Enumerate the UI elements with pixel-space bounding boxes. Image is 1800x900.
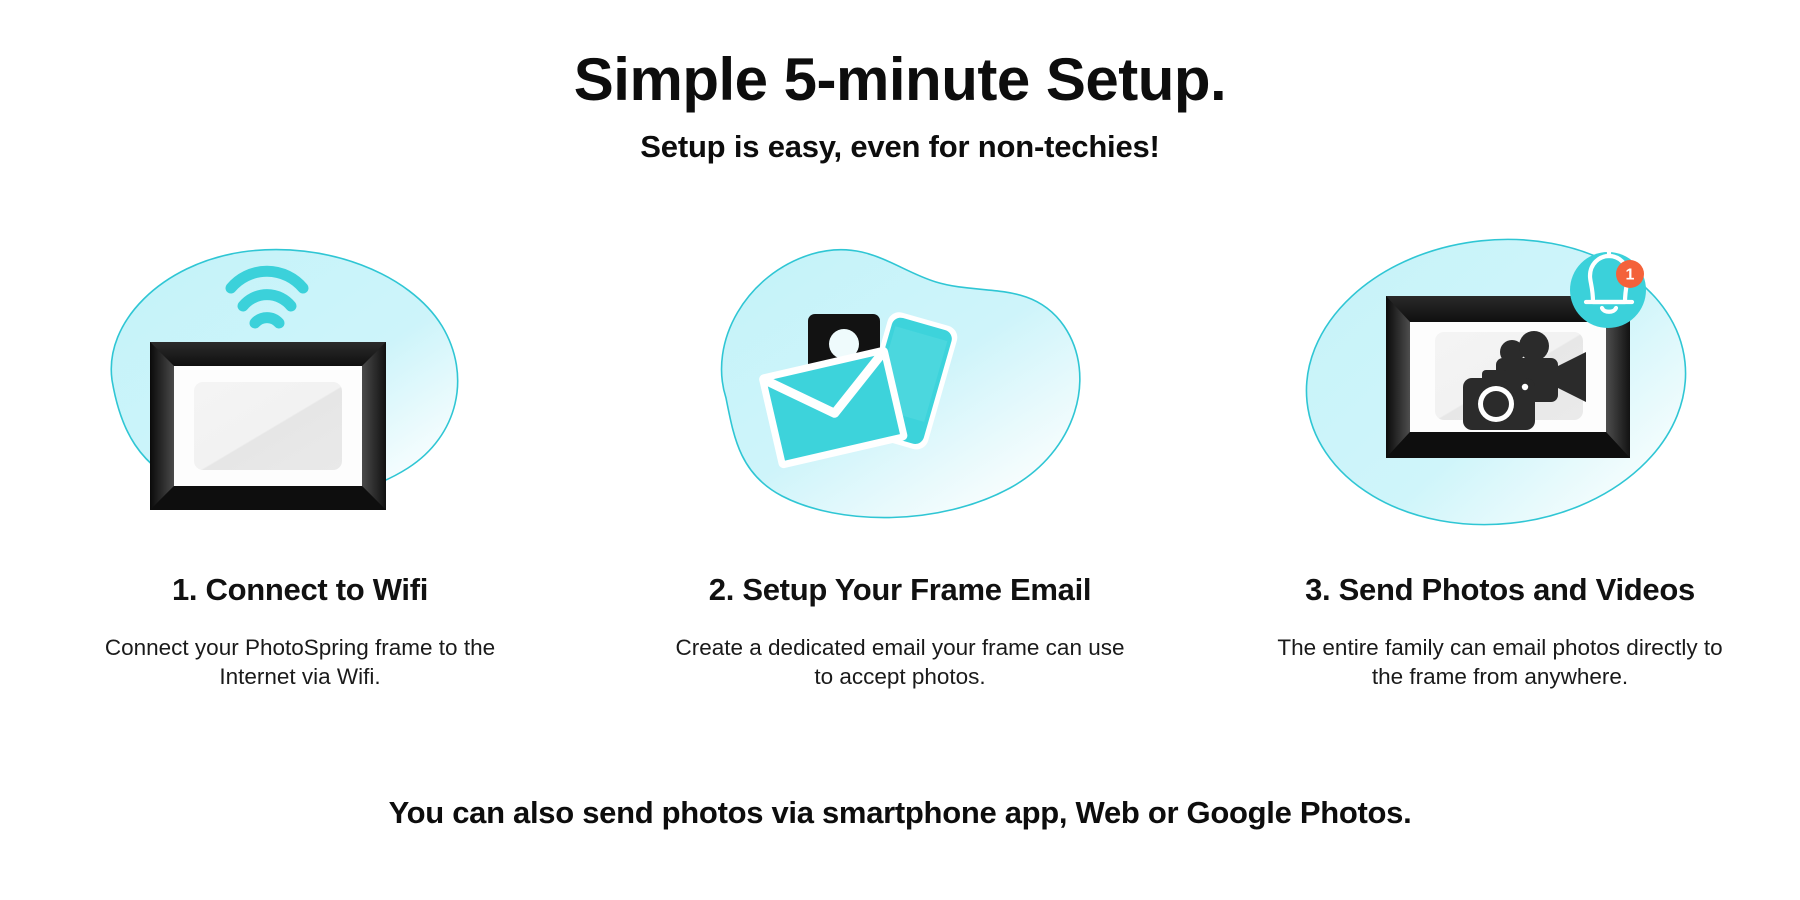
camera-icon	[1463, 370, 1535, 430]
step-1-illustration	[90, 230, 510, 530]
step-column-1: 1. Connect to Wifi Connect your PhotoSpr…	[0, 230, 600, 692]
bell-icon: 1	[1570, 252, 1646, 328]
setup-infographic: Simple 5-minute Setup. Setup is easy, ev…	[0, 0, 1800, 900]
page-title: Simple 5-minute Setup.	[0, 46, 1800, 113]
step-2-description: Create a dedicated email your frame can …	[665, 634, 1135, 692]
step-column-3: 1 3. Send Photos and Videos The entire f…	[1200, 230, 1800, 692]
step-2-title: 2. Setup Your Frame Email	[709, 572, 1091, 608]
step-3-title: 3. Send Photos and Videos	[1305, 572, 1695, 608]
step-1-title: 1. Connect to Wifi	[172, 572, 428, 608]
picture-frame-icon	[150, 342, 386, 510]
footer-note: You can also send photos via smartphone …	[0, 795, 1800, 831]
step-1-description: Connect your PhotoSpring frame to the In…	[65, 634, 535, 692]
step-3-illustration: 1	[1290, 230, 1710, 530]
step-3-description: The entire family can email photos direc…	[1265, 634, 1735, 692]
header: Simple 5-minute Setup. Setup is easy, ev…	[0, 46, 1800, 165]
step-column-2: 2. Setup Your Frame Email Create a dedic…	[600, 230, 1200, 692]
badge-count: 1	[1626, 267, 1635, 284]
step-2-illustration	[690, 230, 1110, 530]
steps-row: 1. Connect to Wifi Connect your PhotoSpr…	[0, 230, 1800, 692]
page-subtitle: Setup is easy, even for non-techies!	[0, 129, 1800, 165]
